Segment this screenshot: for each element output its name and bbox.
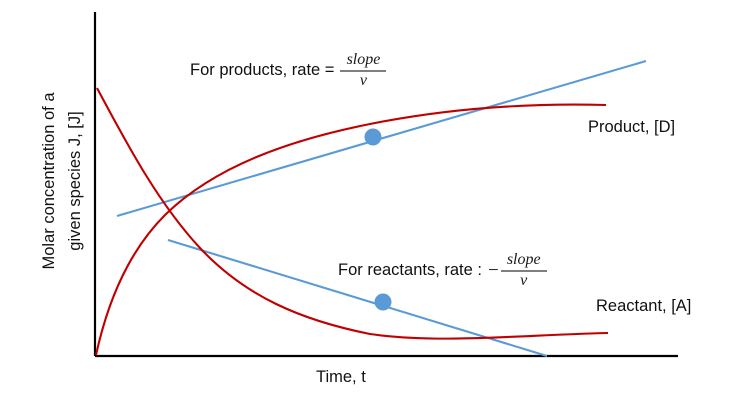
reactants-rate-fraction: slope ν [501,252,547,290]
products-rate-annotation: For products, rate = slope ν [190,52,386,90]
reactant-tangent-point-marker [375,294,392,311]
products-rate-denominator: ν [356,72,371,90]
product-curve [96,105,606,355]
reactants-rate-annotation: For reactants, rate : − slope ν [338,252,547,290]
rate-of-reaction-chart: Molar concentration of a given species J… [0,0,731,405]
reactant-curve [97,88,608,339]
y-axis-title-line-1: Molar concentration of a [36,31,62,331]
reactants-rate-minus-sign: − [488,260,499,282]
x-axis-title: Time, t [316,368,366,387]
y-axis-title: Molar concentration of a given species J… [36,31,88,331]
reactants-rate-lead: For reactants, rate : [338,261,482,280]
reactant-series-label: Reactant, [A] [596,297,691,316]
y-axis-title-line-2: given species J, [J] [62,31,88,331]
reactants-rate-denominator: ν [516,272,531,290]
products-rate-lead: For products, rate = [190,61,334,80]
product-series-label: Product, [D] [588,118,675,137]
products-rate-fraction: slope ν [340,52,386,90]
reactants-rate-numerator: slope [503,252,545,270]
product-tangent-point-marker [365,129,382,146]
products-rate-numerator: slope [343,52,385,70]
